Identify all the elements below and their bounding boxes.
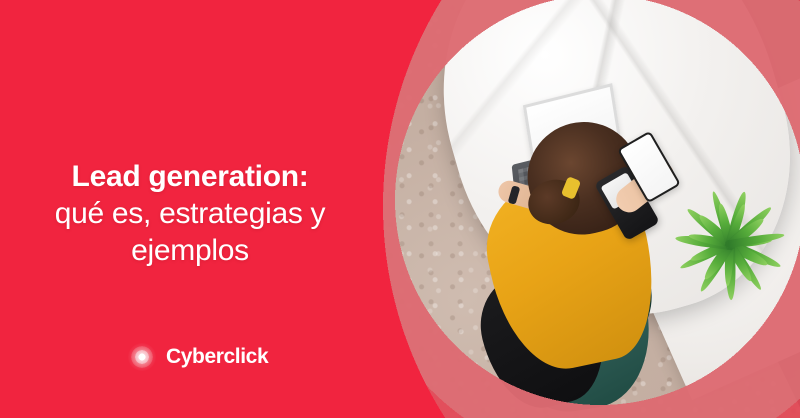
cyberclick-circle-icon bbox=[128, 343, 156, 371]
cyberclick-logo[interactable]: Cyberclick bbox=[128, 343, 268, 371]
page-title: Lead generation: qué es, estrategias y e… bbox=[0, 159, 380, 270]
title-line-1: Lead generation: bbox=[0, 159, 380, 196]
lead-generation-banner: Lead generation: qué es, estrategias y e… bbox=[0, 0, 800, 418]
title-line-2: qué es, estrategias y bbox=[0, 196, 380, 233]
cyberclick-wordmark: Cyberclick bbox=[166, 345, 268, 369]
title-line-3: ejemplos bbox=[0, 233, 380, 270]
